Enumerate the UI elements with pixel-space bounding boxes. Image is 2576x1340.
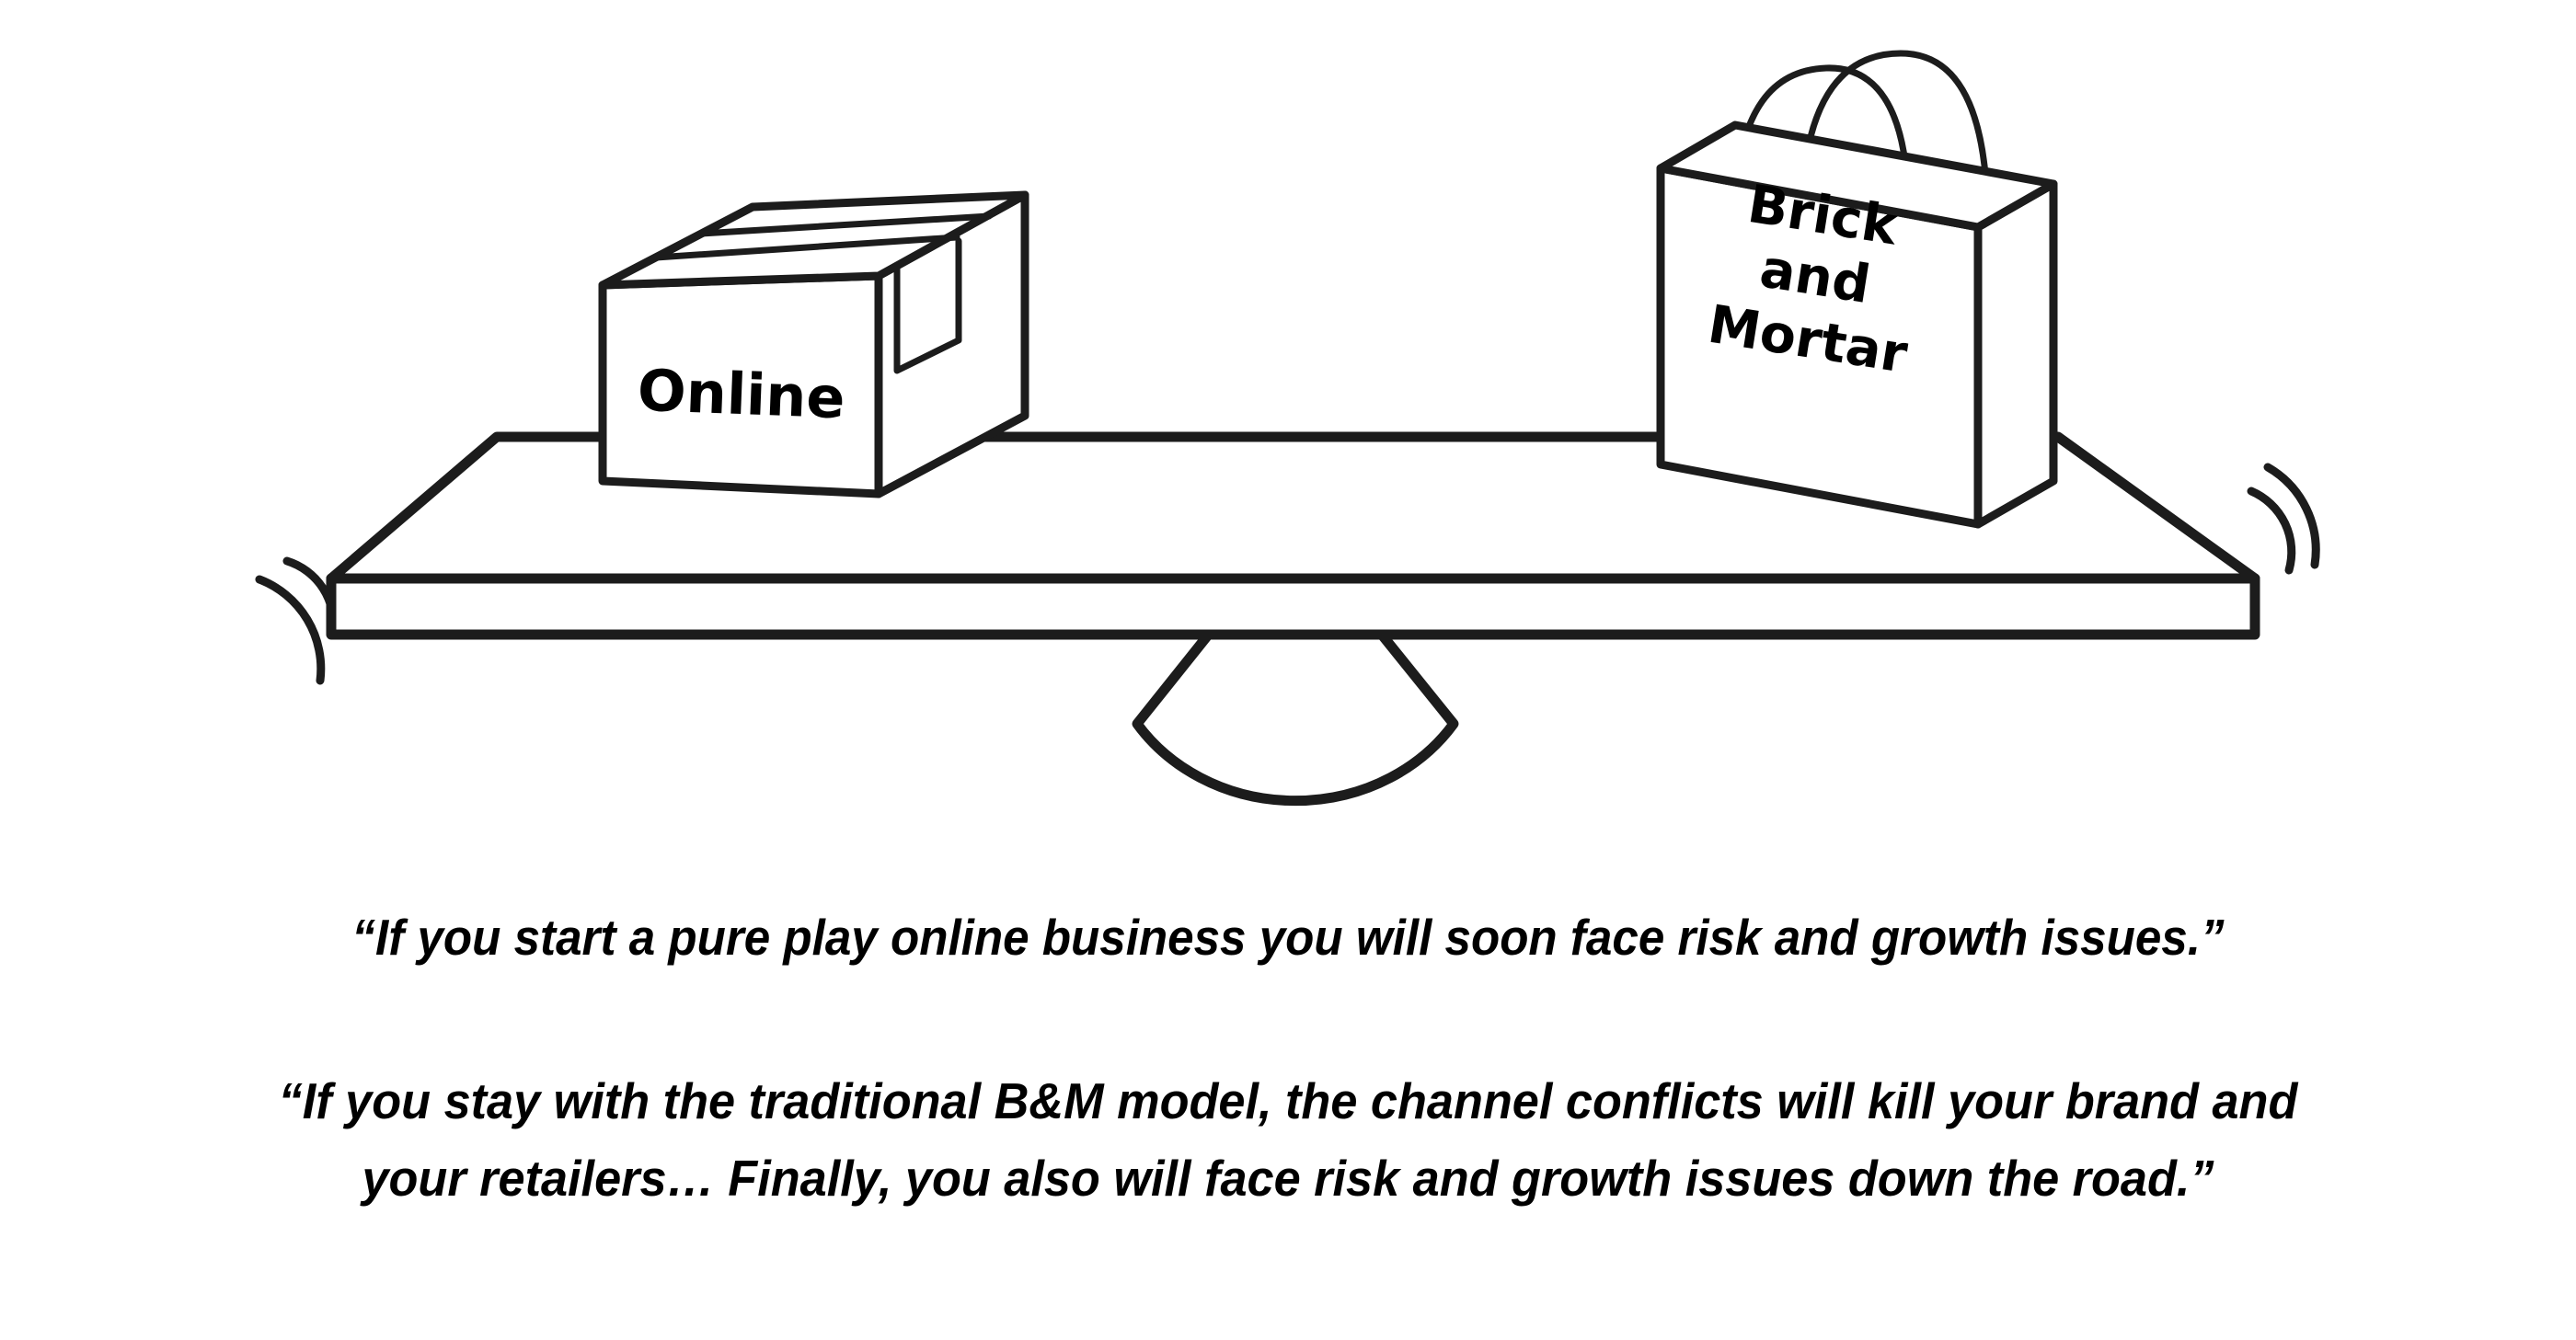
shopping-bag: Brick and Mortar [1661,53,2053,524]
motion-arc-left-outer [259,579,321,681]
motion-arc-right-inner [2251,491,2292,570]
cardboard-box: Online [603,195,1025,494]
quote-second-line-2: your retailers… Finally, you also will f… [117,1140,2459,1217]
box-label: Online [637,357,846,432]
quote-second-line-1: “If you stay with the traditional B&M mo… [117,1062,2459,1140]
page-root: Online Brick and Mortar “If you start a … [0,0,2576,1340]
quote-first: “If you start a pure play online busines… [193,903,2384,971]
bag-side-panel [1978,184,2053,524]
plank-front-face [331,578,2255,635]
balance-illustration: Online Brick and Mortar [0,0,2576,828]
motion-arcs-right [2251,467,2316,570]
balance-scale-svg: Online Brick and Mortar [0,0,2576,828]
quote-second: “If you stay with the traditional B&M mo… [117,1062,2459,1217]
motion-arcs-left [259,561,334,681]
